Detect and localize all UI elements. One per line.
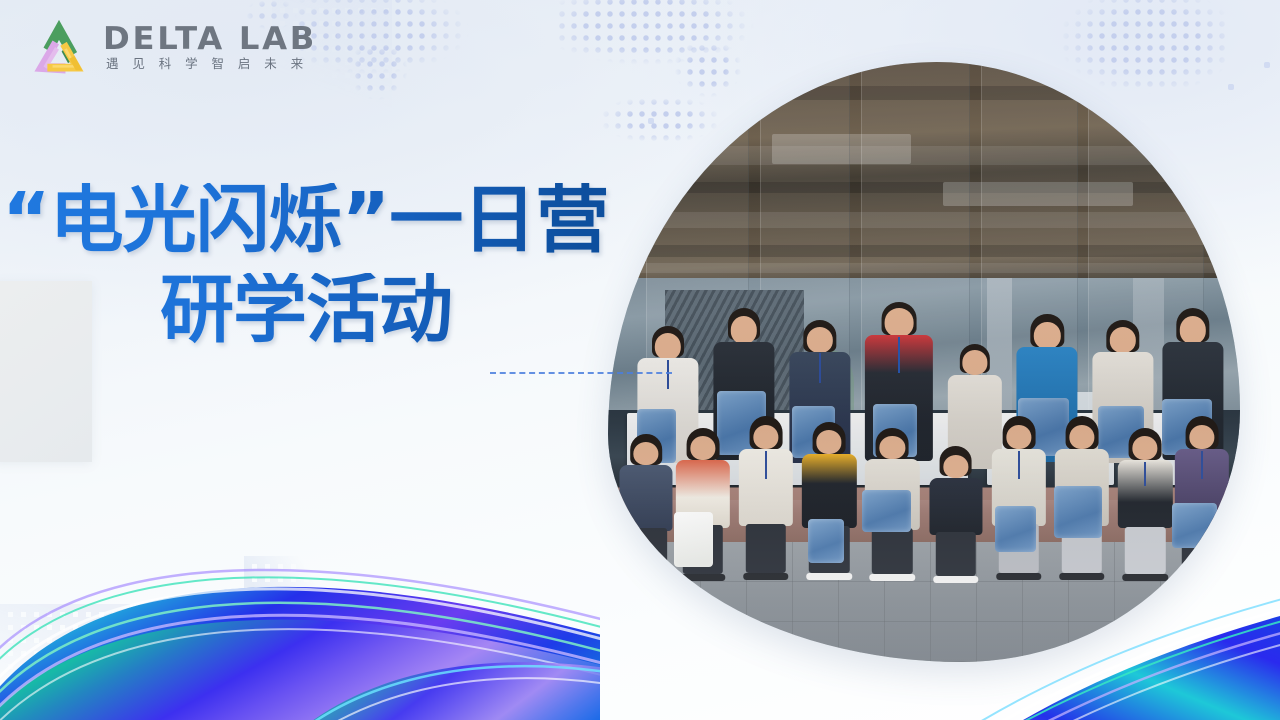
- dot-map-cluster: [352, 46, 416, 106]
- brand-tagline: 遇 见 科 学 智 启 未 来: [103, 58, 309, 71]
- headline-line-2: 研学活动: [0, 273, 660, 347]
- dashed-connector-rule: [490, 372, 672, 374]
- headline-line-1: “电光闪烁”一日营: [0, 183, 660, 257]
- dot-map-cluster: [296, 0, 472, 80]
- pixel-grid-decor: [0, 604, 130, 720]
- slide-canvas: “电光闪烁”一日营 研学活动 DELTA LAB 遇 见 科 学 智 启 未 来: [0, 0, 1280, 720]
- penrose-triangle-icon: [26, 16, 92, 78]
- hero-photo-image: [608, 62, 1240, 662]
- decor-dot: [1264, 62, 1270, 68]
- pixel-grid-decor: [244, 556, 352, 688]
- brand-wordmark: DELTA LAB: [103, 24, 317, 55]
- page-title: “电光闪烁”一日营 研学活动: [0, 183, 660, 347]
- brand-logo-lockup[interactable]: DELTA LAB 遇 见 科 学 智 启 未 来: [26, 16, 309, 78]
- hero-photo: [608, 62, 1240, 662]
- ribbon-decor-bottom-left: [0, 520, 600, 720]
- brand-text-block: DELTA LAB 遇 见 科 学 智 启 未 来: [103, 24, 309, 71]
